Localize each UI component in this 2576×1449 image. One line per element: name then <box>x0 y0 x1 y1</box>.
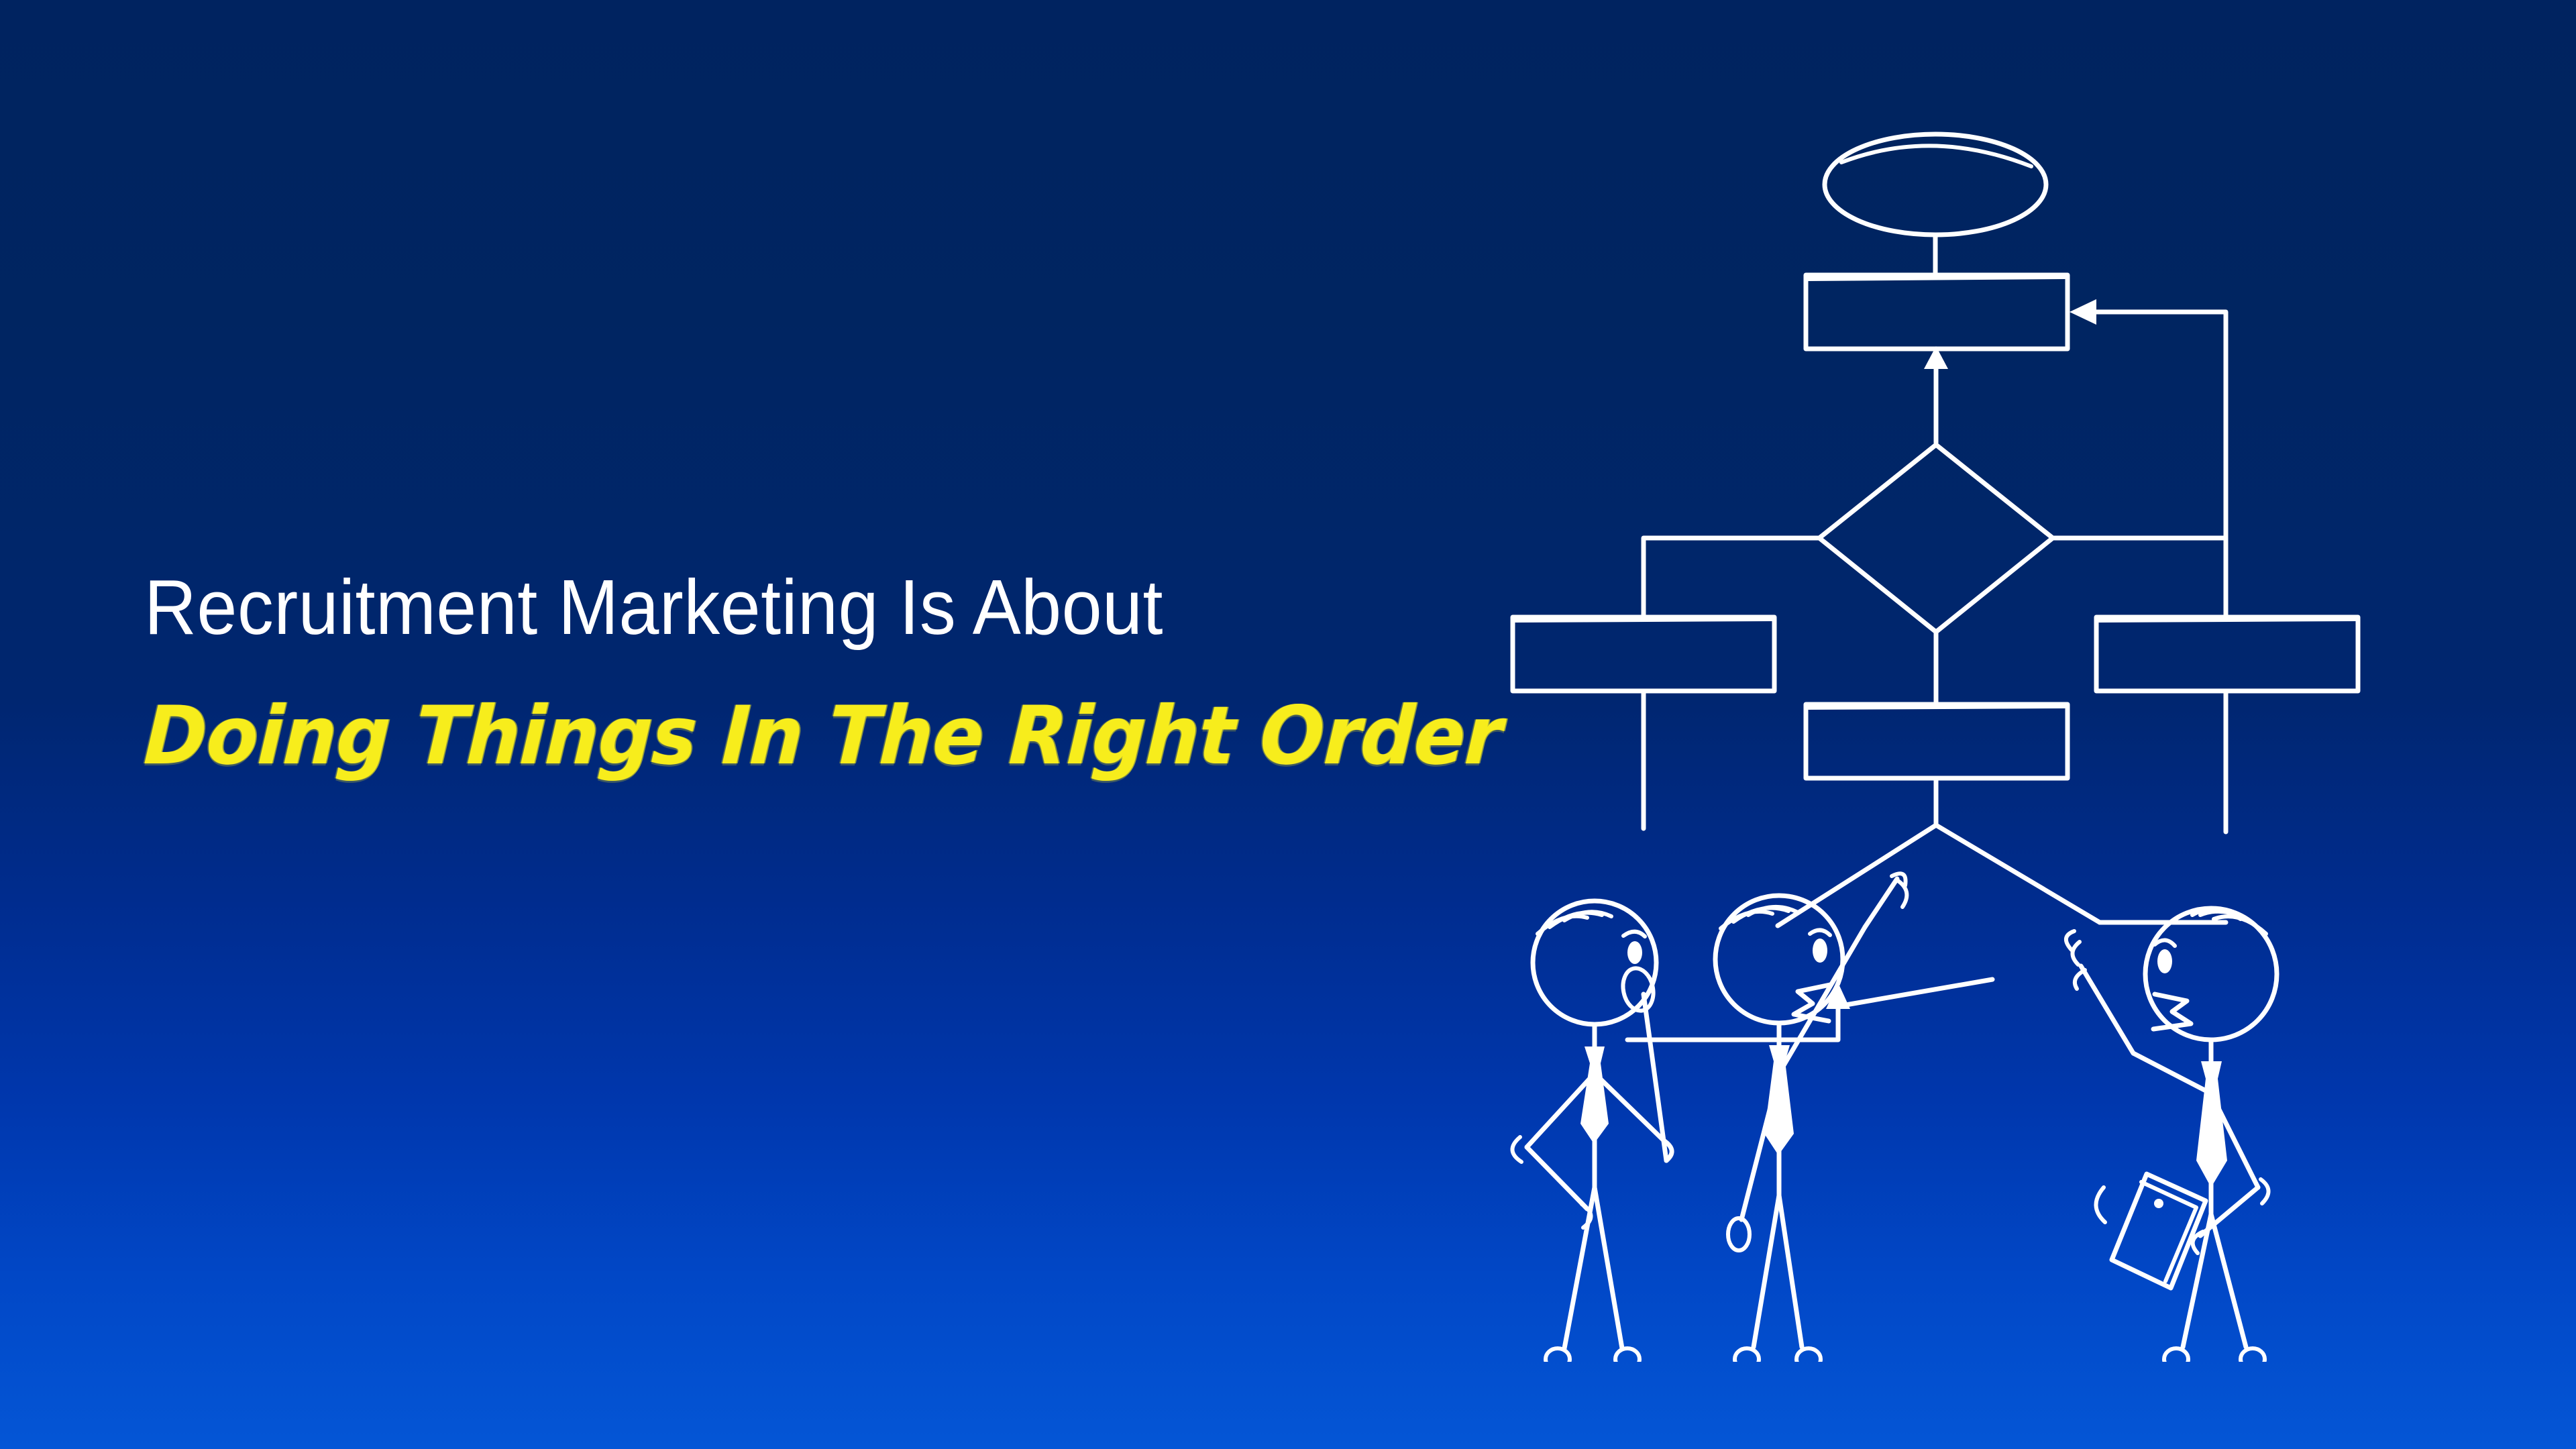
figure-center-eyebrow <box>1810 930 1830 935</box>
flowchart-node-start <box>1825 134 2046 235</box>
figure-right-clipboard <box>2096 1174 2206 1288</box>
figure-center-leg-left <box>1754 1195 1779 1347</box>
flowchart-edge-decision-to-branch-left <box>1644 538 1819 617</box>
figure-right <box>2066 908 2277 1362</box>
figure-left <box>1512 901 1672 1362</box>
figure-left-eyebrow <box>1623 932 1645 936</box>
figure-right-foot-left <box>2164 1348 2188 1362</box>
figure-center-foot-left <box>1735 1348 1759 1362</box>
flowchart-lower-left-diagonal <box>1778 825 1936 926</box>
figure-center-leg-right <box>1779 1195 1802 1347</box>
figure-center-hand-left <box>1728 1218 1750 1250</box>
figure-center-foot-right <box>1796 1348 1821 1362</box>
flowchart-lower-right-diagonal <box>1936 825 2100 922</box>
figure-right-eye <box>2157 949 2172 973</box>
headline-line-1: Recruitment Marketing Is About <box>144 567 1392 648</box>
flowchart-node-decision <box>1819 445 2053 632</box>
flowchart-node-branch-right <box>2096 617 2358 691</box>
figure-left-foot-right <box>1615 1348 1640 1362</box>
figure-right-foot-right <box>2241 1348 2265 1362</box>
flowchart-node-process-top <box>1806 275 2068 349</box>
headline-block: Recruitment Marketing Is About Doing Thi… <box>144 567 1486 777</box>
flowchart-group <box>1513 134 2358 1040</box>
flowchart-node-branch-center <box>1806 704 2068 778</box>
figure-left-leg-right <box>1595 1187 1622 1348</box>
figure-center-eye <box>1813 938 1827 963</box>
flowchart-edge-decision-to-process <box>1924 346 1948 443</box>
flowchart-node-branch-left <box>1513 617 1774 691</box>
headline-line-2: Doing Things In The Right Order <box>142 696 1407 777</box>
figure-center <box>1715 873 1907 1362</box>
flowchart-edge-decision-to-branch-right <box>2053 538 2226 617</box>
illustration-flowchart-and-figures <box>1462 87 2469 1362</box>
figure-left-foot-left <box>1546 1348 1570 1362</box>
figure-right-arm-pointing <box>2133 1053 2211 1093</box>
banner: Recruitment Marketing Is About Doing Thi… <box>0 0 2576 1449</box>
figure-left-leg-left <box>1564 1187 1595 1348</box>
figure-right-eyebrow <box>2155 940 2175 946</box>
flowchart-edge-branch-right-to-process <box>2070 299 2226 617</box>
figure-right-leg-right <box>2211 1214 2246 1347</box>
figure-left-eye <box>1627 941 1642 964</box>
figure-left-forearm-to-chin <box>1644 994 1666 1161</box>
illustration-svg <box>1462 87 2469 1362</box>
